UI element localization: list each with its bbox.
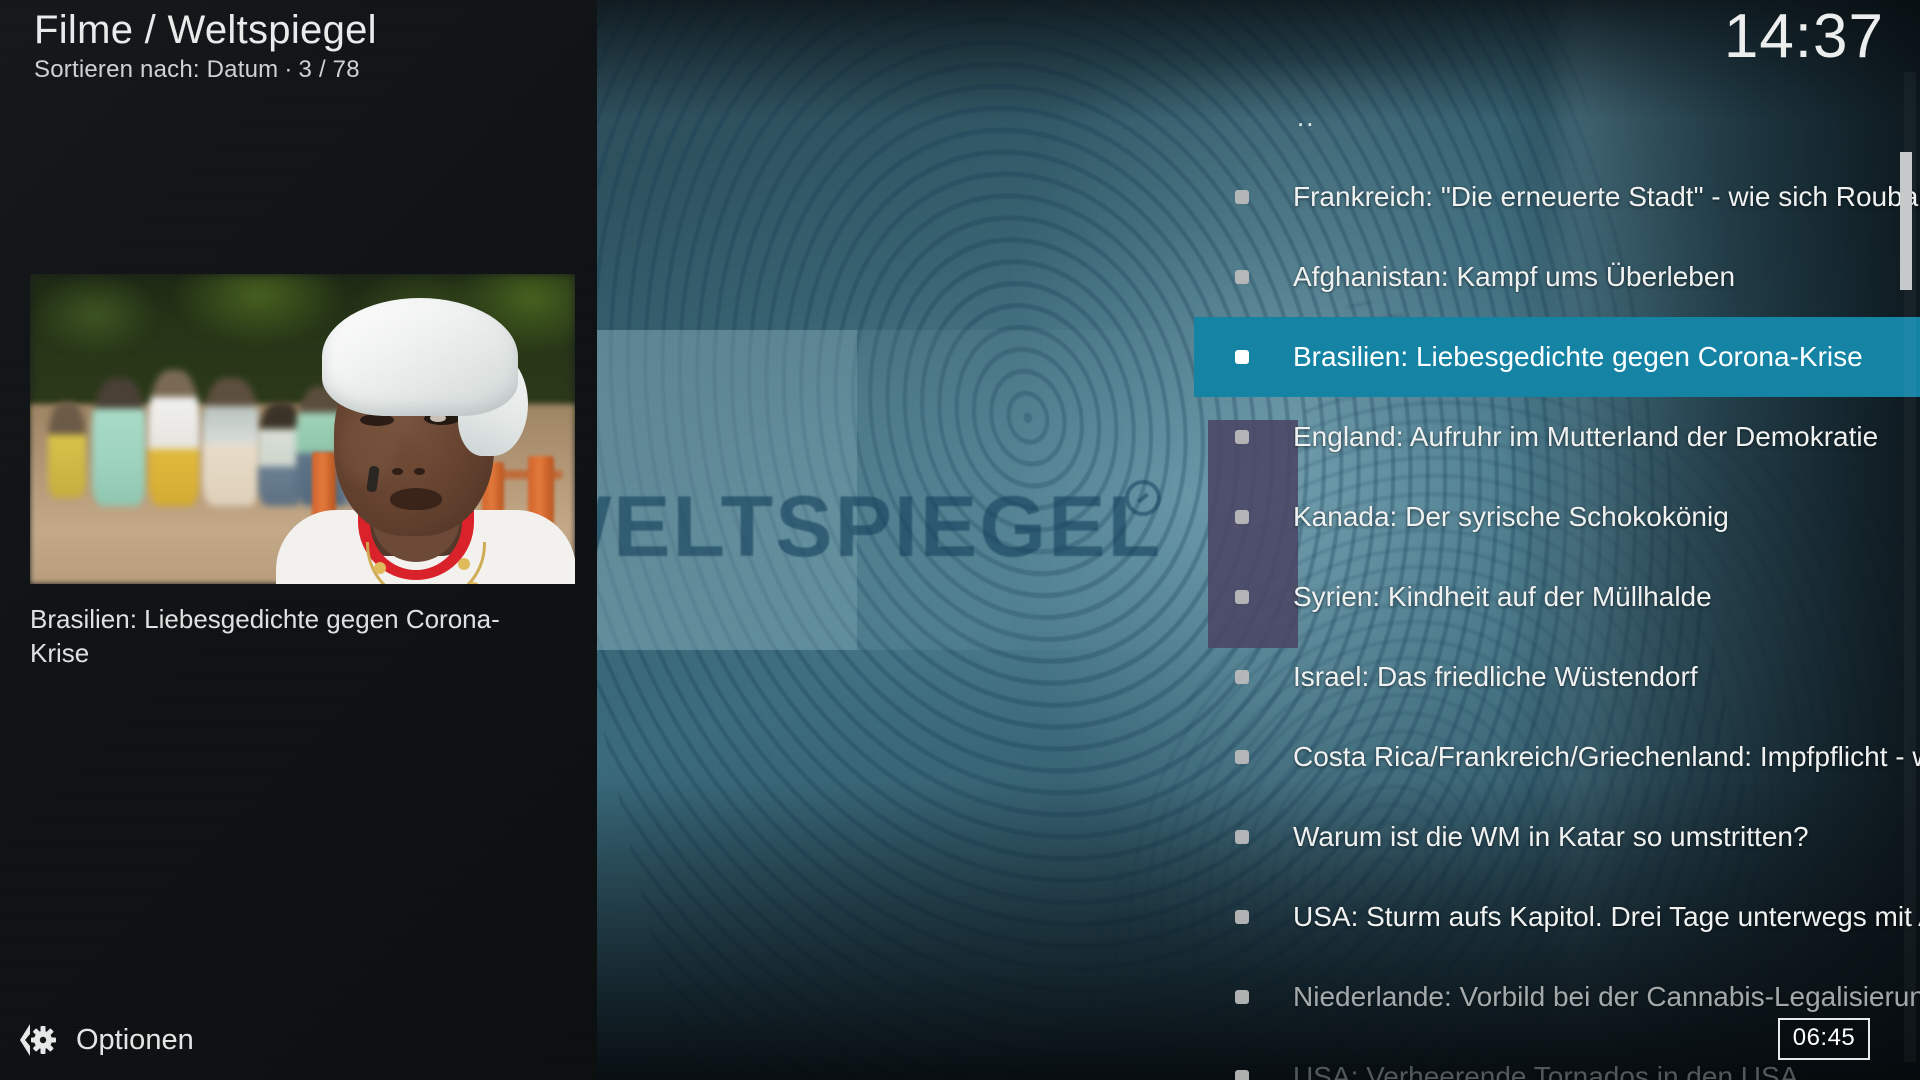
portrait-necklace-bead xyxy=(458,558,470,570)
thumb-portrait xyxy=(262,292,575,584)
list-item[interactable]: Kanada: Der syrische Schokokönig05:30 xyxy=(1194,477,1920,557)
sort-label: Sortieren nach: Datum xyxy=(34,56,278,83)
info-separator: · xyxy=(278,56,298,83)
list-item-label: Israel: Das friedliche Wüstendorf xyxy=(1293,661,1920,693)
list-item-label: Kanada: Der syrische Schokokönig xyxy=(1293,501,1920,533)
duration-badge: 06:45 xyxy=(1778,1018,1870,1060)
list-item[interactable]: Warum ist die WM in Katar so umstritten?… xyxy=(1194,797,1920,877)
list-item-label: England: Aufruhr im Mutterland der Demok… xyxy=(1293,421,1920,453)
thumb-background-figure xyxy=(148,370,200,506)
list-item[interactable]: Afghanistan: Kampf ums Überleben12:47 xyxy=(1194,237,1920,317)
list-item-bullet-icon xyxy=(1235,670,1249,684)
list-item[interactable]: Israel: Das friedliche Wüstendorf06:16 xyxy=(1194,637,1920,717)
list-scrollbar[interactable] xyxy=(1904,72,1916,1062)
options-label: Optionen xyxy=(76,1024,194,1057)
thumb-background-figure xyxy=(92,378,146,506)
selected-item-thumbnail xyxy=(30,274,575,584)
list-item-label: USA: Sturm aufs Kapitol. Drei Tage unter… xyxy=(1293,901,1920,933)
video-list[interactable]: .. Frankreich: "Die erneuerte Stadt" - w… xyxy=(597,0,1920,1080)
thumb-background-figure xyxy=(202,378,260,506)
list-item-label: Costa Rica/Frankreich/Griechenland: Impf… xyxy=(1293,741,1920,773)
portrait-headwrap xyxy=(322,298,518,416)
sidebar-panel: Filme / Weltspiegel Sortieren nach: Datu… xyxy=(0,0,597,1080)
options-button[interactable]: Optionen xyxy=(14,1012,194,1068)
list-item-bullet-icon xyxy=(1235,350,1249,364)
list-item-bullet-icon xyxy=(1235,910,1249,924)
list-item[interactable]: Costa Rica/Frankreich/Griechenland: Impf… xyxy=(1194,717,1920,797)
list-item-label: Syrien: Kindheit auf der Müllhalde xyxy=(1293,581,1920,613)
portrait-necklace-bead xyxy=(374,562,386,574)
list-item-label: Brasilien: Liebesgedichte gegen Corona-K… xyxy=(1293,341,1920,373)
list-item-label: Warum ist die WM in Katar so umstritten? xyxy=(1293,821,1920,853)
list-item[interactable]: England: Aufruhr im Mutterland der Demok… xyxy=(1194,397,1920,477)
list-item-label: Afghanistan: Kampf ums Überleben xyxy=(1293,261,1920,293)
list-item-bullet-icon xyxy=(1235,830,1249,844)
list-item-bullet-icon xyxy=(1235,1070,1249,1080)
thumbnail-image xyxy=(30,274,575,584)
list-item-bullet-icon xyxy=(1235,270,1249,284)
sort-and-position-info: Sortieren nach: Datum·3 / 78 xyxy=(34,56,360,84)
gear-icon xyxy=(14,1018,58,1062)
list-item-bullet-icon xyxy=(1235,990,1249,1004)
list-item-bullet-icon xyxy=(1235,430,1249,444)
list-item[interactable]: Frankreich: "Die erneuerte Stadt" - wie … xyxy=(1194,157,1920,237)
list-item-bullet-icon xyxy=(1235,590,1249,604)
list-item-label: Niederlande: Vorbild bei der Cannabis-Le… xyxy=(1293,981,1920,1013)
portrait-nostril xyxy=(392,468,403,475)
thumbnail-caption: Brasilien: Liebesgedichte gegen Corona-K… xyxy=(30,602,500,671)
kodi-screen: WELTSPIEGEL 14:37 Filme / Weltspiegel So… xyxy=(0,0,1920,1080)
thumb-background-figure xyxy=(48,402,86,498)
list-item-bullet-icon xyxy=(1235,190,1249,204)
portrait-nostril xyxy=(414,468,425,475)
list-item[interactable]: USA: Sturm aufs Kapitol. Drei Tage unter… xyxy=(1194,877,1920,957)
list-scrollbar-thumb[interactable] xyxy=(1900,152,1912,290)
list-item[interactable]: Brasilien: Liebesgedichte gegen Corona-K… xyxy=(1194,317,1920,397)
portrait-mouth xyxy=(390,488,442,510)
item-position: 3 / 78 xyxy=(299,56,360,83)
list-item-label: Frankreich: "Die erneuerte Stadt" - wie … xyxy=(1293,181,1920,213)
page-title: Filme / Weltspiegel xyxy=(34,8,377,53)
list-item-label: USA: Verheerende Tornados in den USA xyxy=(1293,1061,1920,1080)
parent-folder-item[interactable]: .. xyxy=(1297,104,1315,130)
list-item[interactable]: Syrien: Kindheit auf der Müllhalde06:06 xyxy=(1194,557,1920,637)
list-item-bullet-icon xyxy=(1235,510,1249,524)
list-item-bullet-icon xyxy=(1235,750,1249,764)
